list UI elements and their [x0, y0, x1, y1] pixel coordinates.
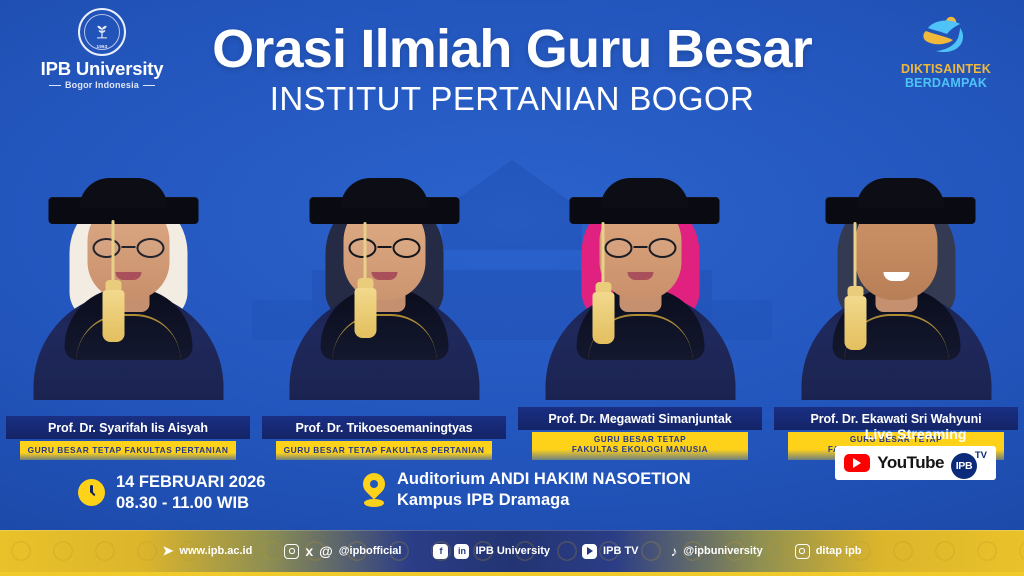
live-streaming-label: Live Streaming [835, 426, 996, 442]
professor-photo [256, 170, 512, 400]
footer-youtube[interactable]: IPB TV [582, 544, 638, 559]
page-title: Orasi Ilmiah Guru Besar [0, 22, 1024, 78]
professor-gallery: Prof. Dr. Syarifah Iis Aisyah GURU BESAR… [0, 170, 1024, 460]
fb-linkedin-name: IPB University [475, 545, 550, 557]
ditap-handle: ditap ipb [816, 545, 862, 557]
diktisaintek-logo: DIKTISAINTEK BERDAMPAK [886, 14, 1006, 91]
footer-tiktok[interactable]: ♪ @ipbuniversity [671, 544, 763, 558]
ipb-tv-suffix: TV [975, 450, 987, 461]
ipb-tv-label: IPB [951, 453, 977, 479]
youtube-icon[interactable] [844, 454, 870, 472]
professor-nameplate: Prof. Dr. Trikoesoemaningtyas GURU BESAR… [262, 416, 506, 461]
tiktok-handle: @ipbuniversity [684, 545, 763, 557]
professor-card: Prof. Dr. Ekawati Sri Wahyuni GURU BESAR… [768, 170, 1024, 460]
footer-gold-strip [0, 572, 1024, 576]
venue-line-2: Kampus IPB Dramaga [397, 490, 691, 511]
professor-card: Prof. Dr. Trikoesoemaningtyas GURU BESAR… [256, 170, 512, 460]
event-info-bar: 14 FEBRUARI 2026 08.30 - 11.00 WIB Audit… [0, 456, 1024, 530]
diktisaintek-line1: DIKTISAINTEK [886, 63, 1006, 77]
youtube-icon[interactable] [582, 544, 597, 559]
footer-fb-linkedin[interactable]: f in IPB University [433, 544, 550, 559]
professor-name: Prof. Dr. Trikoesoemaningtyas [262, 416, 506, 439]
title-block: Orasi Ilmiah Guru Besar INSTITUT PERTANI… [0, 22, 1024, 116]
diktisaintek-mark-icon [918, 14, 974, 56]
poster-header: 1963 IPB University Bogor Indonesia Oras… [0, 0, 1024, 160]
footer-ditap[interactable]: ditap ipb [795, 544, 862, 559]
footer-bar: ➤ www.ipb.ac.id x @ @ipbofficial f in IP… [0, 530, 1024, 576]
youtube-channel: IPB TV [603, 545, 638, 557]
x-twitter-icon[interactable]: x [305, 544, 313, 558]
venue-line-1: Auditorium ANDI HAKIM NASOETION [397, 469, 691, 490]
poster-canvas: 1963 IPB University Bogor Indonesia Oras… [0, 0, 1024, 576]
event-datetime-text: 14 FEBRUARI 2026 08.30 - 11.00 WIB [116, 472, 265, 513]
footer-social-row: ➤ www.ipb.ac.id x @ @ipbofficial f in IP… [0, 530, 1024, 572]
professor-name: Prof. Dr. Megawati Simanjuntak [518, 407, 762, 430]
professor-nameplate: Prof. Dr. Syarifah Iis Aisyah GURU BESAR… [6, 416, 250, 461]
facebook-icon[interactable]: f [433, 544, 448, 559]
social-handle: @ipbofficial [339, 545, 402, 557]
professor-nameplate: Prof. Dr. Megawati Simanjuntak GURU BESA… [518, 407, 762, 461]
professor-photo [512, 170, 768, 400]
event-time: 08.30 - 11.00 WIB [116, 493, 265, 514]
professor-photo [0, 170, 256, 400]
live-streaming-block: Live Streaming YouTube IPB TV [835, 426, 996, 480]
professor-card: Prof. Dr. Syarifah Iis Aisyah GURU BESAR… [0, 170, 256, 460]
badge-line-1: GURU BESAR TETAP [534, 435, 746, 445]
footer-social-handles[interactable]: x @ @ipbofficial [284, 544, 401, 559]
streaming-platforms[interactable]: YouTube IPB TV [835, 446, 996, 480]
ipb-tv-logo[interactable]: IPB TV [951, 450, 987, 476]
instagram-icon[interactable] [795, 544, 810, 559]
diktisaintek-line2: BERDAMPAK [886, 77, 1006, 91]
event-venue: Auditorium ANDI HAKIM NASOETION Kampus I… [362, 469, 691, 510]
tiktok-icon[interactable]: ♪ [671, 544, 678, 558]
event-date: 14 FEBRUARI 2026 [116, 472, 265, 493]
paper-plane-icon: ➤ [162, 543, 173, 559]
professor-photo [768, 170, 1024, 400]
threads-icon[interactable]: @ [319, 544, 333, 558]
event-venue-text: Auditorium ANDI HAKIM NASOETION Kampus I… [397, 469, 691, 510]
page-subtitle: INSTITUT PERTANIAN BOGOR [0, 82, 1024, 117]
professor-card: Prof. Dr. Megawati Simanjuntak GURU BESA… [512, 170, 768, 460]
website-url: www.ipb.ac.id [179, 545, 252, 557]
instagram-icon[interactable] [284, 544, 299, 559]
youtube-label: YouTube [877, 453, 944, 473]
footer-website[interactable]: ➤ www.ipb.ac.id [162, 543, 252, 559]
event-datetime: 14 FEBRUARI 2026 08.30 - 11.00 WIB [78, 472, 265, 513]
badge-line-2: FAKULTAS EKOLOGI MANUSIA [534, 445, 746, 455]
professor-name: Prof. Dr. Syarifah Iis Aisyah [6, 416, 250, 439]
clock-icon [78, 479, 105, 506]
linkedin-icon[interactable]: in [454, 544, 469, 559]
location-pin-icon [362, 473, 386, 507]
